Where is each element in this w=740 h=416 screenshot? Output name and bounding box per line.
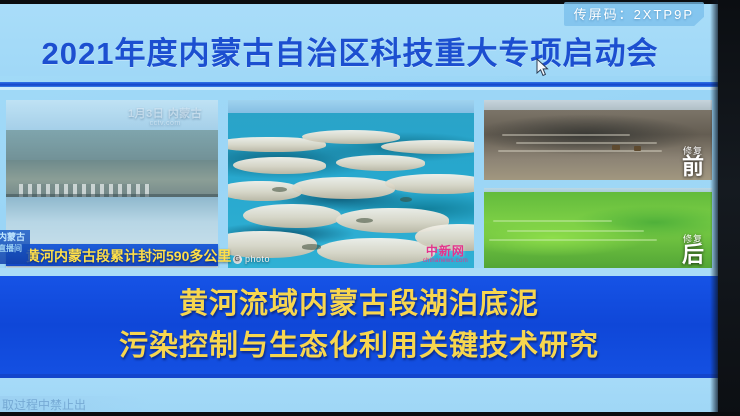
mine-pit — [484, 110, 712, 180]
header-divider-glow — [0, 87, 718, 90]
photo-watermark-mark: G — [233, 255, 242, 264]
mine-vehicle — [612, 145, 620, 150]
slide-right-shadow — [710, 0, 718, 416]
mine-vehicle — [634, 146, 641, 151]
photo-watermark: G photo — [233, 254, 270, 264]
desert-vegetation — [356, 218, 373, 223]
source-watermark-en: chinanews.com — [423, 258, 468, 264]
broadcast-date: 1月3日 内蒙古 — [128, 108, 202, 120]
mine-terrace — [502, 134, 630, 136]
broadcast-date-watermark: 1月3日 内蒙古 cctv.com — [128, 108, 202, 128]
restored-terrace — [507, 230, 644, 232]
ghost-overlay-text: 取过程中禁止出 — [0, 396, 150, 412]
mouse-cursor-icon — [536, 58, 550, 78]
sand-dune — [233, 157, 326, 174]
broadcast-site: cctv.com — [128, 120, 202, 128]
photo-watermark-label: photo — [245, 254, 270, 264]
project-title-line-2: 污染控制与生态化利用关键技术研究 — [119, 325, 599, 367]
camera-frame-bottom-bar — [0, 412, 740, 416]
mine-terrace — [516, 142, 657, 144]
channel-logo-line1: 内蒙古 — [0, 232, 28, 243]
page-title: 2021年度内蒙古自治区科技重大专项启动会 — [0, 28, 700, 73]
sand-dune — [302, 130, 400, 143]
channel-logo: 内蒙古 直播间 — [0, 230, 30, 264]
camera-frame-right-bar — [718, 0, 740, 416]
source-watermark: 中新网 chinanews.com — [423, 245, 468, 264]
project-title-banner: 黄河流域内蒙古段湖泊底泥 污染控制与生态化利用关键技术研究 — [0, 276, 718, 374]
photo-before-after-pair: 修复 前 修复 后 — [484, 100, 712, 268]
project-title-line-1: 黄河流域内蒙古段湖泊底泥 — [179, 283, 539, 325]
photo-mine-after-restoration: 修复 后 — [484, 188, 712, 268]
screen-capture-frame: 2021年度内蒙古自治区科技重大专项启动会 — [0, 0, 740, 416]
sand-dune — [317, 238, 435, 265]
channel-logo-line2: 直播间 — [0, 243, 28, 254]
restored-terrace — [489, 239, 658, 241]
before-label-big: 前 — [682, 156, 704, 178]
sand-dune — [243, 204, 341, 228]
desert-vegetation — [302, 244, 322, 249]
after-label-big: 后 — [682, 244, 704, 266]
title-gap — [0, 268, 718, 276]
photo-row: G photo 中新网 chinanews.com — [0, 100, 718, 268]
source-watermark-cn: 中新网 — [423, 245, 468, 258]
restored-terrace — [493, 220, 612, 222]
after-label: 修复 后 — [682, 235, 704, 266]
sand-dune — [228, 181, 302, 201]
news-caption: 黄河内蒙古段累计封河590多公里 — [26, 246, 231, 266]
footer-divider — [0, 374, 718, 378]
photo-mine-before-restoration: 修复 前 — [484, 100, 712, 180]
before-label: 修复 前 — [682, 147, 704, 178]
screen-code-badge: 传屏码：2XTP9P — [564, 2, 704, 26]
sand-dune — [336, 155, 425, 170]
projected-slide: 2021年度内蒙古自治区科技重大专项启动会 — [0, 4, 718, 412]
photo-desert-lakes-aerial: G photo 中新网 chinanews.com — [228, 100, 474, 268]
